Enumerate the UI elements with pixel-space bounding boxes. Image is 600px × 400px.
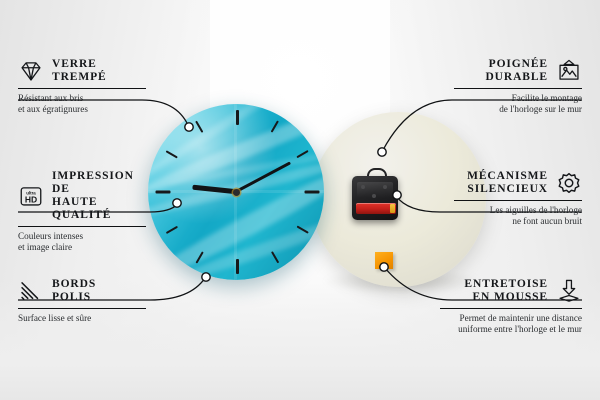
foam-spacer: [375, 252, 393, 269]
feature-description: Surface lisse et sûre: [18, 313, 146, 324]
feature-entretoise-en-mousse: ENTRETOISE EN MOUSSE Permet de maintenir…: [440, 278, 582, 335]
feature-title: ENTRETOISE EN MOUSSE: [464, 278, 548, 304]
hands-center-cap: [233, 189, 240, 196]
foam-spacer-icon: [556, 278, 582, 304]
feature-title: IMPRESSION DE HAUTE QUALITÉ: [52, 170, 146, 222]
ultra-hd-icon: ultra HD: [18, 183, 44, 209]
feature-description: Résistant aux bris et aux égratignures: [18, 93, 146, 115]
feature-title: BORDS POLIS: [52, 278, 96, 304]
feature-impression-haute-qualite: ultra HD IMPRESSION DE HAUTE QUALITÉ Cou…: [18, 170, 146, 253]
hour-tick-9: [156, 191, 171, 194]
feature-rule: [18, 88, 146, 89]
clock-battery: [356, 203, 396, 214]
feature-verre-trempe: VERRE TREMPÉ Résistant aux bris et aux é…: [18, 58, 146, 115]
hour-tick-5: [271, 251, 280, 263]
feature-title: VERRE TREMPÉ: [52, 58, 107, 84]
hour-tick-6: [236, 259, 239, 274]
mechanism-screw: [383, 185, 387, 189]
feature-rule: [18, 226, 146, 227]
feature-rule: [454, 200, 582, 201]
infographic-stage: VERRE TREMPÉ Résistant aux bris et aux é…: [0, 0, 600, 400]
feature-title: POIGNÉE DURABLE: [485, 58, 548, 84]
feature-rule: [440, 308, 582, 309]
polished-edges-icon: [18, 278, 44, 304]
feature-description: Facilite le montage de l'horloge sur le …: [454, 93, 582, 115]
gear-icon: [556, 170, 582, 196]
hour-tick-3: [305, 191, 320, 194]
clock-mechanism: [352, 176, 398, 220]
feature-title: MÉCANISME SILENCIEUX: [467, 170, 548, 196]
hour-tick-12: [236, 110, 239, 125]
feature-rule: [454, 88, 582, 89]
battery-terminal: [390, 204, 395, 213]
feature-bords-polis: BORDS POLIS Surface lisse et sûre: [18, 278, 146, 324]
feature-description: Couleurs intenses et image claire: [18, 231, 146, 253]
svg-text:HD: HD: [25, 195, 37, 205]
feature-rule: [18, 308, 146, 309]
feature-poignee-durable: POIGNÉE DURABLE Facilite le montage de l…: [454, 58, 582, 115]
clock-face: [148, 104, 324, 280]
mechanism-screw: [372, 194, 376, 198]
feature-description: Les aiguilles de l'horloge ne font aucun…: [454, 205, 582, 227]
mechanism-screw: [361, 185, 365, 189]
feature-mecanisme-silencieux: MÉCANISME SILENCIEUX Les aiguilles de l'…: [454, 170, 582, 227]
feature-description: Permet de maintenir une distance uniform…: [440, 313, 582, 335]
diamond-icon: [18, 58, 44, 84]
picture-hanger-icon: [556, 58, 582, 84]
